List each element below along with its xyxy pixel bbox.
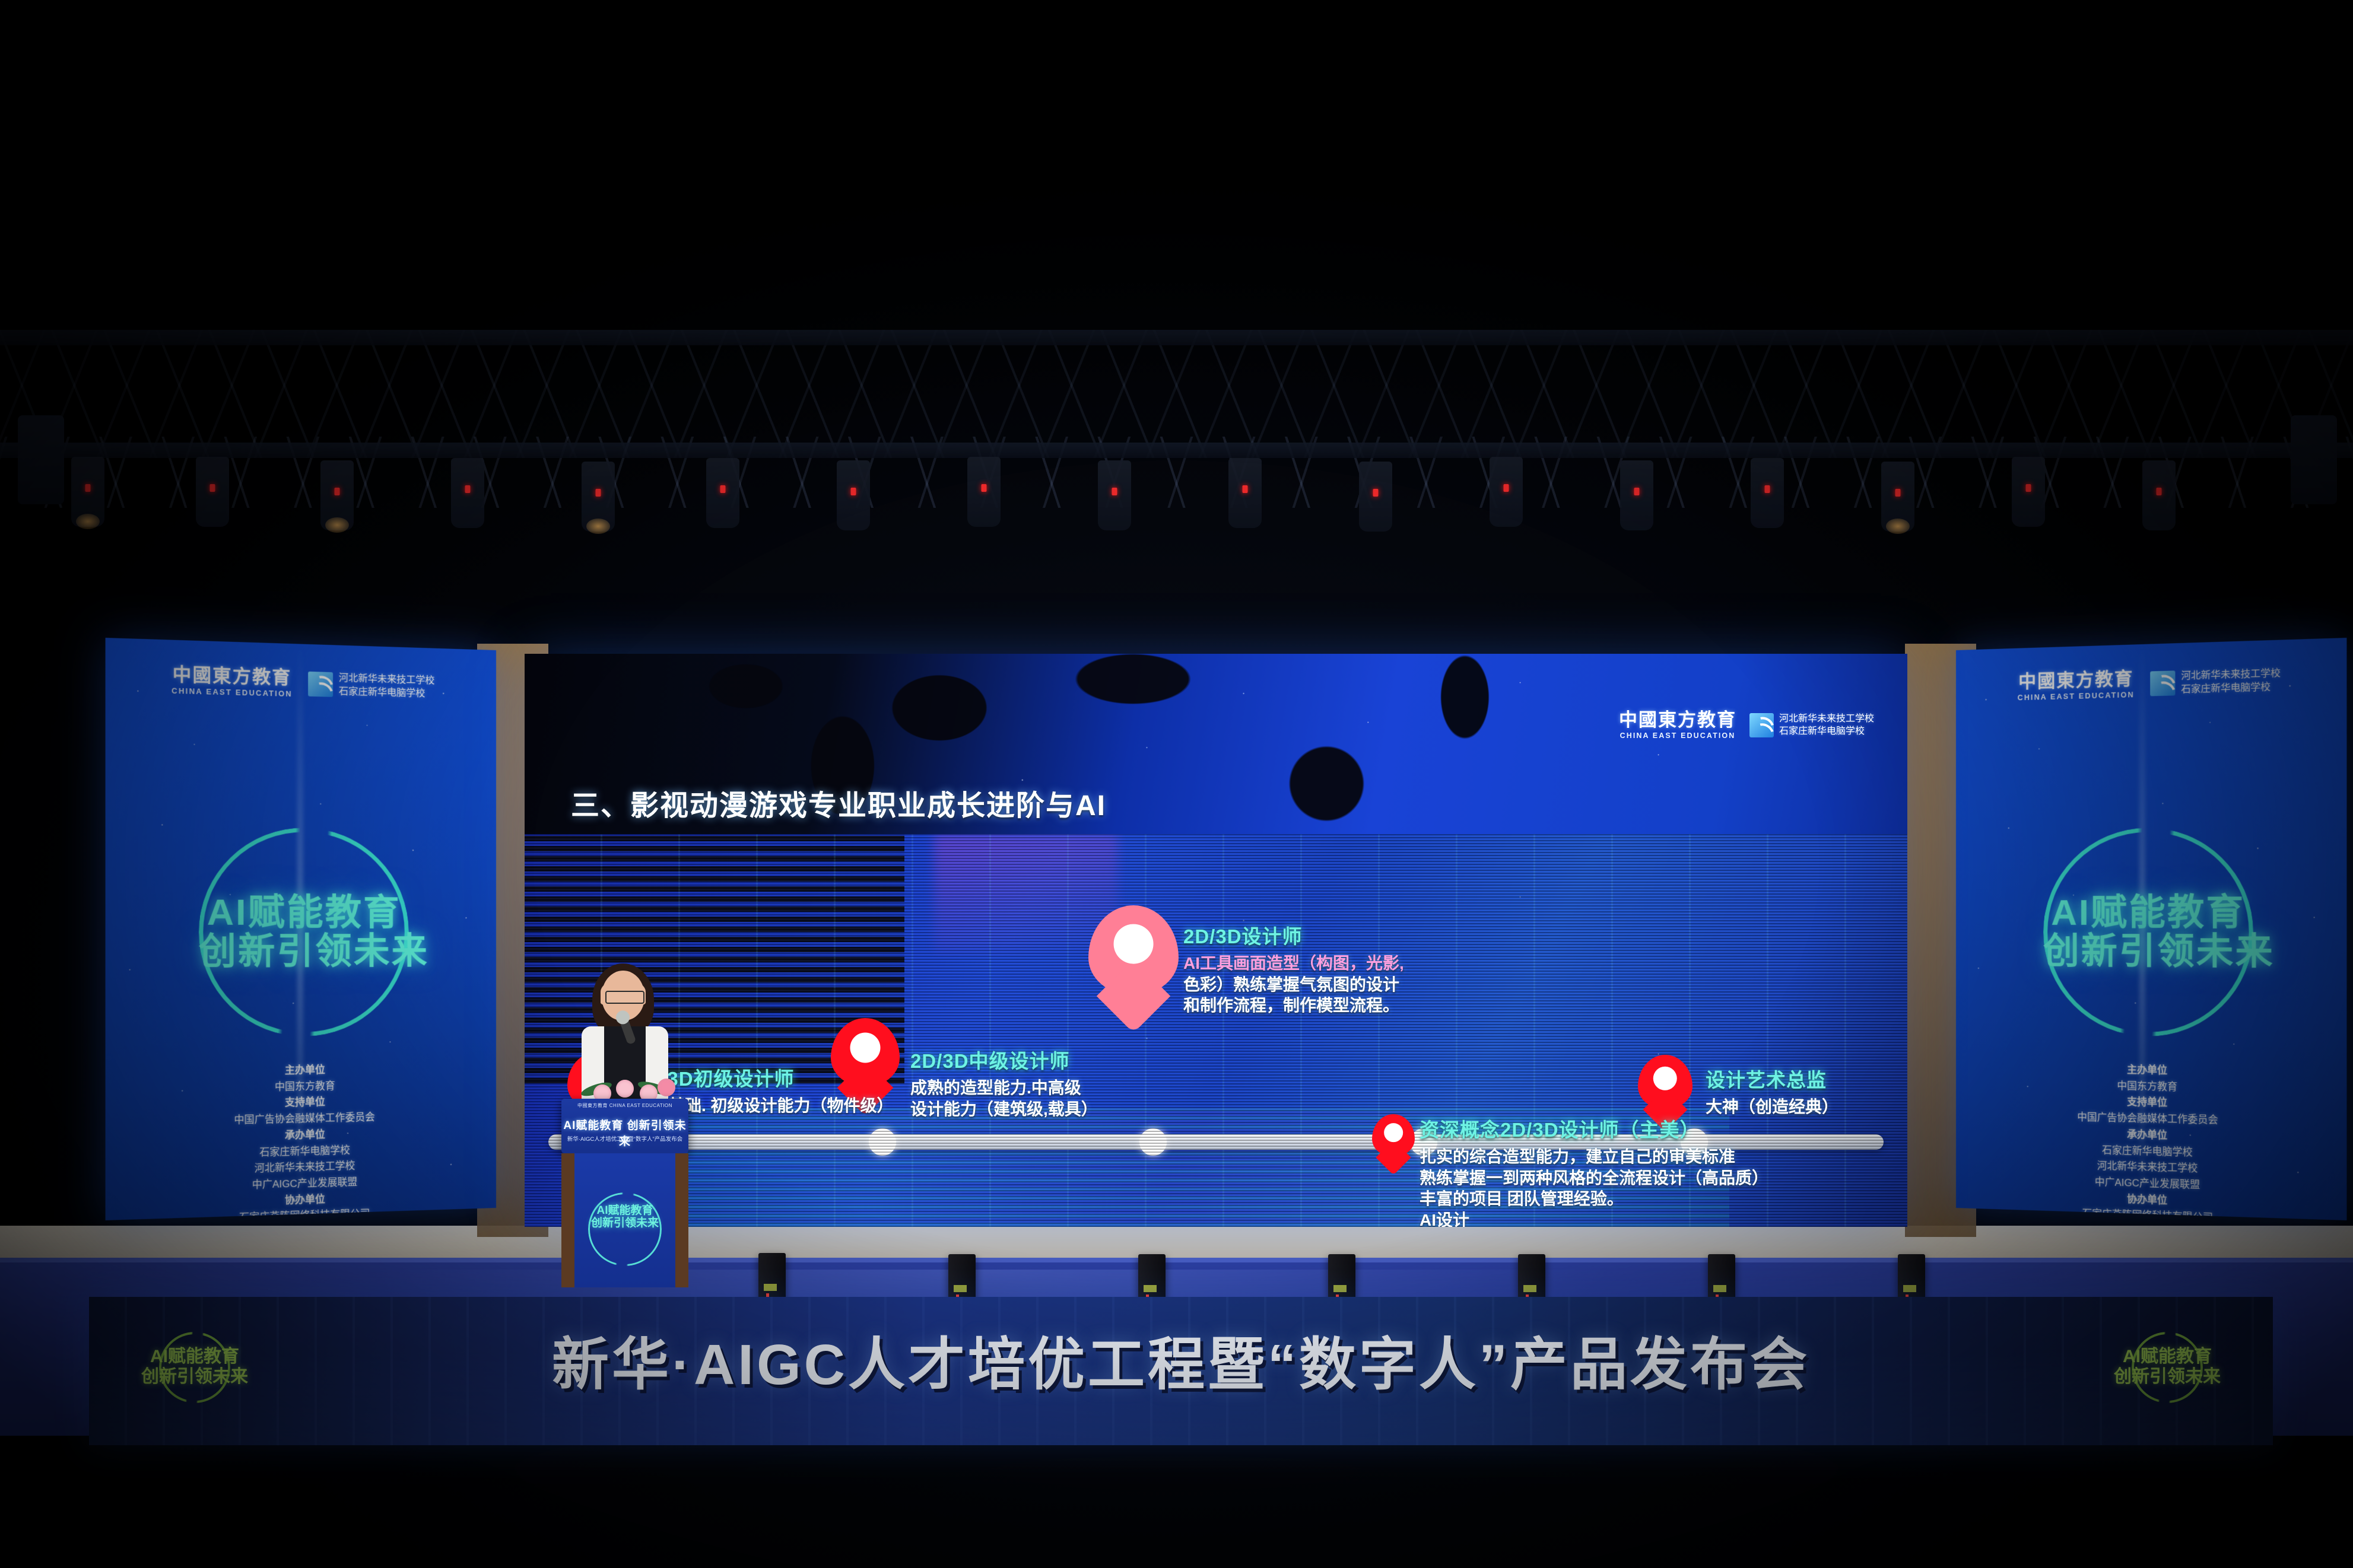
wave-mark-icon <box>2151 671 2176 696</box>
podium-top-panel: 中國東方教育 CHINA EAST EDUCATION AI赋能教育 创新引领未… <box>561 1099 688 1153</box>
stage-block-intermediate: 2D/3D中级设计师 成熟的造型能力.中高级 设计能力（建筑级,载具） <box>910 1045 1098 1119</box>
school-logo: 河北新华未来技工学校 石家庄新华电脑学校 <box>309 671 435 700</box>
front-banner-mark-right: AI赋能教育 创新引领未来 <box>2078 1329 2256 1406</box>
school-logo: 河北新华未来技工学校 石家庄新华电脑学校 <box>1749 713 1874 738</box>
stage-deck-edge <box>0 1258 2353 1262</box>
speaker-podium-group: 中國東方教育 CHINA EAST EDUCATION AI赋能教育 创新引领未… <box>551 960 699 1292</box>
stage-line: AI设计 <box>1420 1210 1768 1227</box>
map-pin-icon-art-director <box>1638 1055 1692 1109</box>
school-name: 河北新华未来技工学校 石家庄新华电脑学校 <box>1779 713 1874 738</box>
slogan-line-2: 创新引领未来 <box>177 932 429 971</box>
slide-body: 2D/3D初级设计师 造型基础. 初级设计能力（物件级） 2D/3D中级设计师 … <box>525 834 1907 1227</box>
stage-line: 色彩）熟练掌握气氛图的设计 <box>1183 974 1404 995</box>
banner-slogan-right: AI赋能教育 创新引领未来 <box>1956 823 2346 1041</box>
podium-panel-slogan: AI赋能教育 创新引领未来 <box>551 1204 699 1230</box>
slide-logos: 中國東方教育 CHINA EAST EDUCATION 河北新华未来技工学校 石… <box>1619 711 1874 740</box>
credits-right: 主办单位 中国东方教育 支持单位 中国广告协会融媒体工作委员会 承办单位 石家庄… <box>1956 1060 2346 1220</box>
stage-line: 熟练掌握一到两种风格的全流程设计（高品质） <box>1420 1168 1768 1189</box>
credits-left: 主办单位 中国东方教育 支持单位 中国广告协会融媒体工作委员会 承办单位 石家庄… <box>106 1060 496 1220</box>
stage-front-banner: AI赋能教育 创新引领未来 新华·AIGC人才培优工程暨“数字人”产品发布会 A… <box>89 1297 2273 1445</box>
stage-line: 扎实的综合造型能力，建立自己的审美标准 <box>1420 1146 1768 1168</box>
stage-line: 设计能力（建筑级,载具） <box>910 1099 1098 1120</box>
map-pin-icon-designer <box>1088 905 1179 995</box>
stage-heading: 2D/3D中级设计师 <box>910 1045 1098 1074</box>
china-east-logo: 中國東方教育 CHINA EAST EDUCATION <box>1619 711 1736 740</box>
school-logo: 河北新华未来技工学校 石家庄新华电脑学校 <box>2151 667 2281 697</box>
slogan-line-1: AI赋能教育 <box>177 893 429 932</box>
school-name: 河北新华未来技工学校 石家庄新华电脑学校 <box>2181 667 2281 696</box>
front-banner-title: 新华·AIGC人才培优工程暨“数字人”产品发布会 <box>89 1318 2273 1401</box>
stage-heading: 2D/3D设计师 <box>1183 921 1404 949</box>
stage-heading: 资深概念2D/3D设计师（主美） <box>1420 1114 1768 1143</box>
podium-subtitle: 新华·AIGC人才培优工程暨“数字人”产品发布会 <box>561 1134 688 1143</box>
school-name: 河北新华未来技工学校 石家庄新华电脑学校 <box>339 672 435 701</box>
stage-block-designer: 2D/3D设计师 AI工具画面造型（构图，光影, 色彩）熟练掌握气氛图的设计 和… <box>1183 921 1404 1016</box>
stage-line: 成熟的造型能力.中高级 <box>910 1077 1098 1099</box>
slide-title: 三、影视动漫游戏专业职业成长进阶与AI <box>571 782 1106 823</box>
wave-mark-icon <box>1749 713 1774 737</box>
led-banner-right: 中國東方教育 CHINA EAST EDUCATION 河北新华未来技工学校 石… <box>1956 638 2346 1220</box>
china-east-cn: 中國東方教育 <box>172 666 293 688</box>
china-east-logo: 中國東方教育 CHINA EAST EDUCATION <box>172 666 293 698</box>
stage-line: 大神（创造经典） <box>1706 1096 1838 1118</box>
timeline-node <box>1139 1128 1167 1156</box>
led-banner-left: 中國東方教育 CHINA EAST EDUCATION 河北新华未来技工学校 石… <box>106 638 496 1220</box>
stage-block-senior-concept: 资深概念2D/3D设计师（主美） 扎实的综合造型能力，建立自己的审美标准 熟练掌… <box>1420 1114 1768 1227</box>
slide-header: 中國東方教育 CHINA EAST EDUCATION 河北新华未来技工学校 石… <box>525 654 1907 834</box>
china-east-logo: 中國東方教育 CHINA EAST EDUCATION <box>2018 670 2135 702</box>
main-led-wall: 中國東方教育 CHINA EAST EDUCATION 河北新华未来技工学校 石… <box>525 654 1907 1227</box>
stage-line: 和制作流程，制作模型流程。 <box>1183 995 1404 1016</box>
map-pin-icon-senior-concept <box>1372 1114 1415 1157</box>
stage-line: AI工具画面造型（构图，光影, <box>1183 953 1404 974</box>
stage-line: 丰富的项目 团队管理经验。 <box>1420 1188 1768 1210</box>
stage-heading: 设计艺术总监 <box>1706 1064 1838 1093</box>
glasses-icon <box>605 991 644 1004</box>
podium-logo-text: 中國東方教育 CHINA EAST EDUCATION <box>561 1102 688 1109</box>
wave-mark-icon <box>309 672 334 697</box>
stage-block-art-director: 设计艺术总监 大神（创造经典） <box>1706 1064 1838 1118</box>
banner-slogan-left: AI赋能教育 创新引领未来 <box>106 823 496 1041</box>
podium-title: AI赋能教育 创新引领未来 <box>561 1117 688 1149</box>
timeline-node <box>869 1128 896 1156</box>
